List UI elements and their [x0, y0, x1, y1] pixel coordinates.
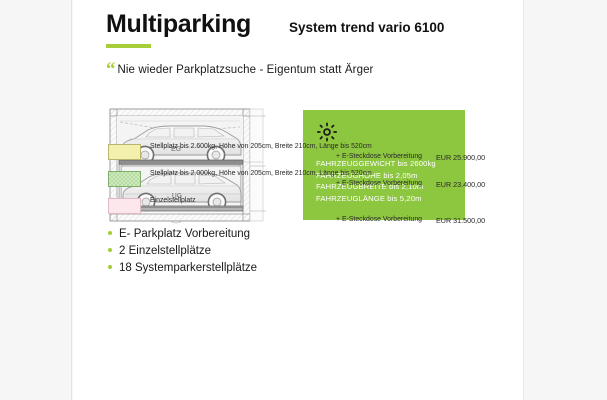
- price-row: Stellplatz bis 2.600kg, Höhe von 205cm, …: [108, 142, 508, 162]
- list-item: E- Parkplatz Vorbereitung: [108, 228, 257, 240]
- price-row-amount: EUR 25.900,00: [436, 153, 508, 163]
- content-sheet: Multiparking System trend vario 6100 “ N…: [73, 0, 523, 400]
- feature-bullet-list: E- Parkplatz Vorbereitung 2 Einzelstellp…: [108, 228, 257, 279]
- list-item-label: E- Parkplatz Vorbereitung: [119, 228, 250, 240]
- price-row: Einzelstellplatz + E-Steckdose Vorbereit…: [108, 196, 508, 225]
- price-row-addon: + E-Steckdose Vorbereitung: [150, 215, 436, 226]
- bullet-dot-icon: [108, 248, 112, 252]
- price-row-addon: + E-Steckdose Vorbereitung: [150, 179, 436, 190]
- price-row-description: Einzelstellplatz: [150, 196, 436, 206]
- header: Multiparking System trend vario 6100 “ N…: [106, 10, 506, 76]
- bullet-dot-icon: [108, 265, 112, 269]
- color-swatch-green: [108, 171, 141, 187]
- list-item: 18 Systemparkerstellplätze: [108, 262, 257, 274]
- page-right-gutter: [523, 0, 607, 400]
- price-row-description: Stellplatz bis 2.000kg, Höhe von 205cm, …: [150, 169, 436, 179]
- color-swatch-pink: [108, 198, 141, 214]
- title-underline-rule: [106, 44, 151, 48]
- price-row-amount: EUR 31.500,00: [436, 216, 508, 226]
- price-row-addon: + E-Steckdose Vorbereitung: [150, 152, 436, 163]
- bullet-dot-icon: [108, 231, 112, 235]
- title-row: Multiparking System trend vario 6100: [106, 10, 506, 39]
- price-row-description: Stellplatz bis 2.600kg, Höhe von 205cm, …: [150, 142, 436, 152]
- list-item-label: 18 Systemparkerstellplätze: [119, 262, 257, 274]
- list-item: 2 Einzelstellplätze: [108, 245, 257, 257]
- tagline: “ Nie wieder Parkplatzsuche - Eigentum s…: [106, 64, 506, 76]
- page-subtitle: System trend vario 6100: [289, 20, 444, 35]
- document-page: Multiparking System trend vario 6100 “ N…: [0, 0, 607, 400]
- color-swatch-yellow: [108, 144, 141, 160]
- page-title: Multiparking: [106, 10, 251, 39]
- price-row-text: Stellplatz bis 2.000kg, Höhe von 205cm, …: [141, 169, 436, 189]
- quote-mark-icon: “: [106, 64, 116, 75]
- list-item-label: 2 Einzelstellplätze: [119, 245, 211, 257]
- gear-icon: [316, 121, 338, 143]
- price-row-amount: EUR 23.400,00: [436, 180, 508, 190]
- price-row: Stellplatz bis 2.000kg, Höhe von 205cm, …: [108, 169, 508, 189]
- price-row-text: Stellplatz bis 2.600kg, Höhe von 205cm, …: [141, 142, 436, 162]
- price-list: Stellplatz bis 2.600kg, Höhe von 205cm, …: [108, 142, 508, 232]
- tagline-text: Nie wieder Parkplatzsuche - Eigentum sta…: [118, 64, 374, 76]
- price-row-text: Einzelstellplatz + E-Steckdose Vorbereit…: [141, 196, 436, 225]
- page-left-gutter: [0, 0, 72, 400]
